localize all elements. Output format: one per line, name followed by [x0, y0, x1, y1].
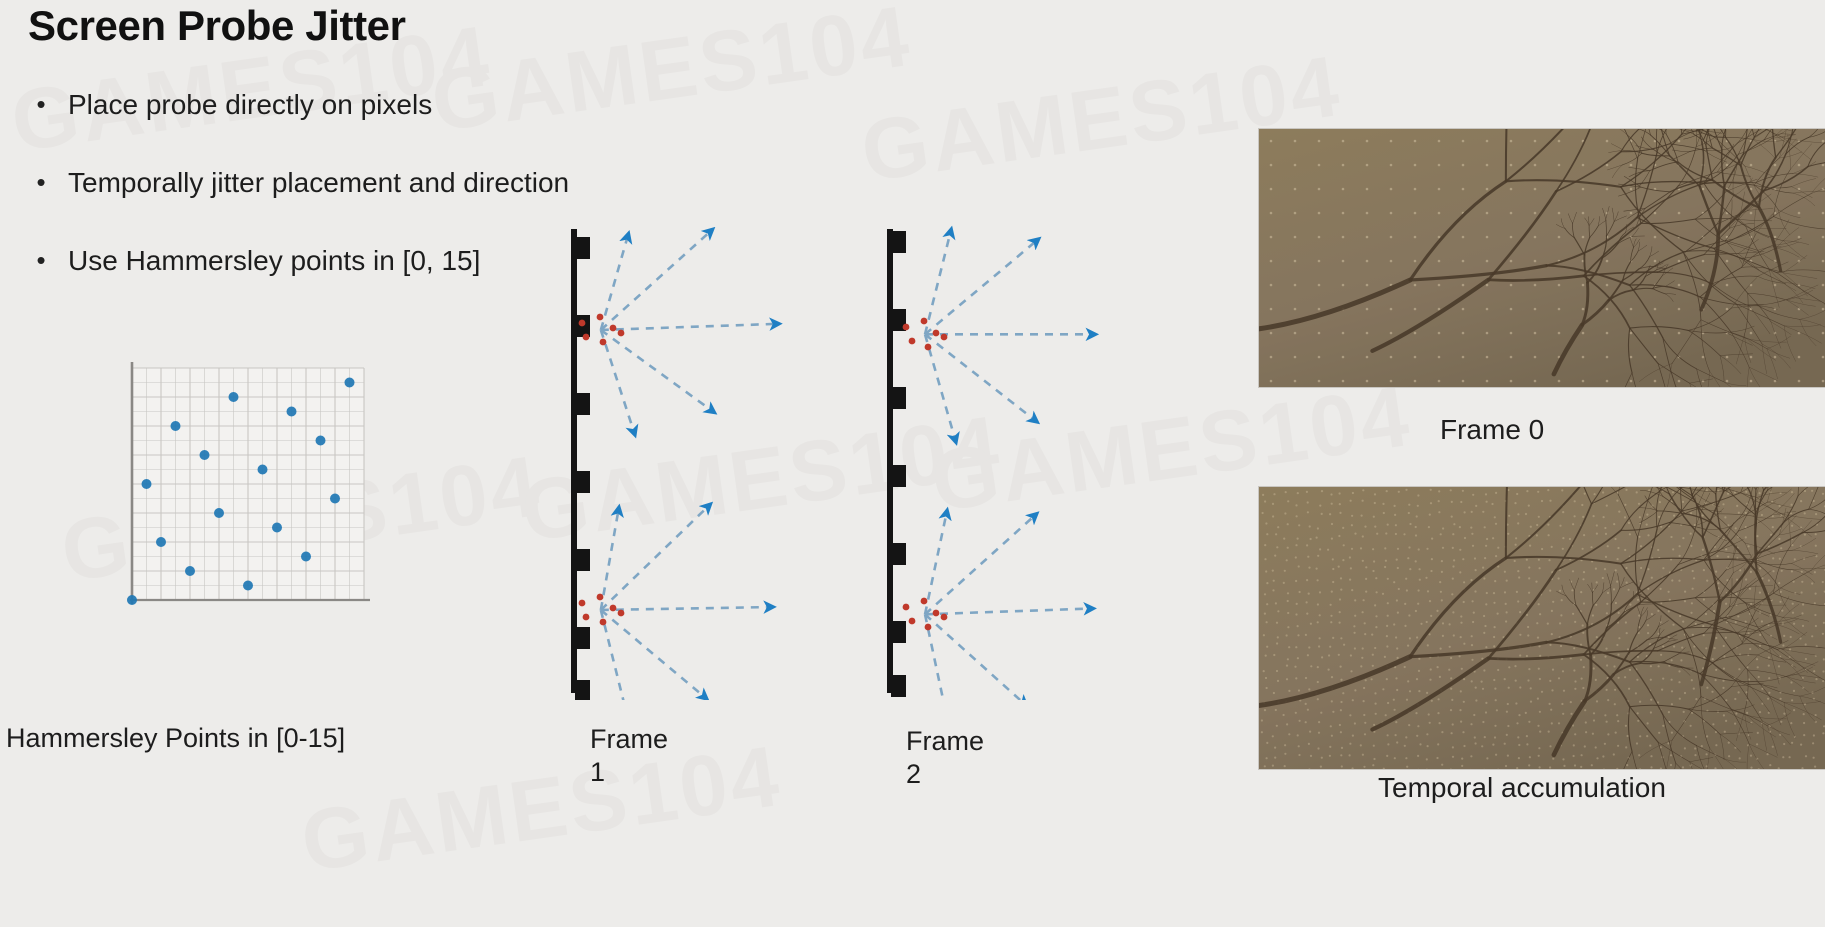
frame1-label-line2: 1 [590, 756, 668, 789]
page-title: Screen Probe Jitter [28, 2, 406, 50]
render-accumulation-image [1258, 486, 1825, 770]
frame1-probe-diagram [556, 225, 806, 700]
bullet-marker-icon: • [30, 88, 52, 120]
render-frame0-caption: Frame 0 [1440, 414, 1544, 446]
bullet-text: Temporally jitter placement and directio… [68, 166, 569, 200]
render-frame0-svg [1259, 129, 1825, 387]
frame2-diagram-svg [872, 225, 1122, 700]
render-accumulation-svg [1259, 487, 1825, 769]
bullet-marker-icon: • [30, 244, 52, 276]
render-frame0-image [1258, 128, 1825, 388]
frame2-probe-diagram [872, 225, 1122, 700]
render-accumulation-caption: Temporal accumulation [1378, 772, 1666, 804]
bullet-text: Use Hammersley points in [0, 15] [68, 244, 480, 278]
list-item: • Temporally jitter placement and direct… [30, 166, 670, 200]
frame1-label-line1: Frame [590, 723, 668, 756]
bullet-text: Place probe directly on pixels [68, 88, 432, 122]
frame2-label: Frame 2 [906, 725, 984, 791]
bullet-marker-icon: • [30, 166, 52, 198]
watermark-text: GAMES104 [295, 727, 787, 892]
frame1-label: Frame 1 [590, 723, 668, 789]
scatter-plot-svg [118, 362, 370, 612]
frame1-diagram-svg [556, 225, 806, 700]
scatter-chart-caption: Hammersley Points in [0-15] [6, 723, 345, 754]
frame2-label-line1: Frame [906, 725, 984, 758]
list-item: • Place probe directly on pixels [30, 88, 670, 122]
hammersley-scatter-chart [118, 362, 370, 612]
frame2-label-line2: 2 [906, 758, 984, 791]
